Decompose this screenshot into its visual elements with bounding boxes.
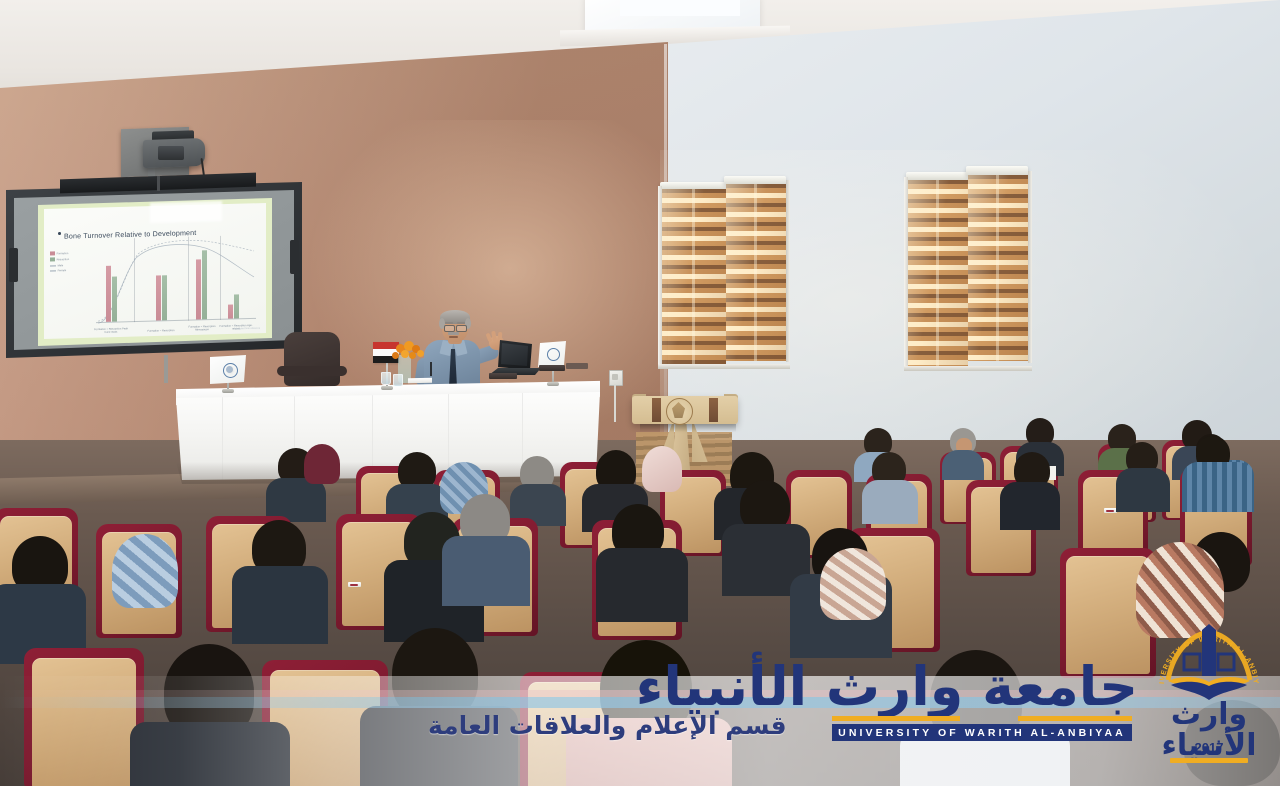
projected-slide: Bone Turnover Relative to Development <box>44 203 266 339</box>
bar-group-3 <box>228 294 239 318</box>
slide-credit-line: Adapted from reference <box>236 328 260 332</box>
book-stack <box>566 363 588 369</box>
podium-accent-left <box>652 398 661 422</box>
legend-swatch-resorption <box>50 258 55 262</box>
chart-xtick-1: Formation = Resorption <box>141 329 181 333</box>
legend-swatch-formation <box>50 251 55 255</box>
blind-left-panel-b[interactable] <box>726 184 786 361</box>
legend-label-resorption: Resorption <box>57 258 70 261</box>
chart-legend: Formation Resorption Male Female <box>50 250 90 275</box>
smartboard-mount-left <box>9 248 18 282</box>
bar-resorption-0 <box>112 277 117 322</box>
legend-label-formation: Formation <box>57 252 69 255</box>
blind-right-panel-b[interactable] <box>968 175 1028 361</box>
lecture-hall-photo: Bone Turnover Relative to Development <box>0 0 1280 786</box>
watermark-university-english: UNIVERSITY OF WARITH AL-ANBIYAA <box>838 727 1126 739</box>
bar-formation-1 <box>156 275 161 320</box>
table-microphone <box>430 362 432 376</box>
bar-formation-3 <box>228 305 233 319</box>
notebook-right <box>539 365 565 371</box>
smartboard-pen-stalk <box>164 355 168 383</box>
presenter-mouth <box>449 336 458 338</box>
watermark-gold-rule-right <box>1018 716 1132 721</box>
water-glass-1 <box>381 372 391 385</box>
seal-founded-year: 2017 <box>1148 740 1270 755</box>
slide-bar-chart: Formation > Resorption Peak bone mass Fo… <box>96 241 256 323</box>
presenter-glasses-right <box>456 325 467 332</box>
smartboard-speaker-divider <box>157 176 160 191</box>
bar-formation-0 <box>106 266 111 322</box>
legend-item-male: Male <box>50 263 90 267</box>
blind-left-panel-a[interactable] <box>662 189 726 366</box>
watermark-university-logo: جامعة وارث الأنبياء UNIVERSITY OF WARITH… <box>826 664 1138 750</box>
legend-line-male <box>50 265 56 266</box>
laptop-display-panel <box>501 343 528 366</box>
presenter-glasses-left <box>444 325 455 332</box>
legend-label-female: Female <box>58 269 67 272</box>
bar-formation-2 <box>196 259 201 319</box>
wall-socket-outlet <box>612 374 618 380</box>
watermark-university-arabic: جامعة وارث الأنبياء <box>826 660 1138 714</box>
slide-glare-hotspot <box>150 201 222 223</box>
legend-item-female: Female <box>50 269 90 273</box>
speaker-chair <box>284 332 340 386</box>
bar-resorption-1 <box>162 275 167 320</box>
legend-item-formation: Formation <box>50 250 90 255</box>
bar-resorption-2 <box>202 250 207 319</box>
slide-bullet-icon <box>58 232 61 235</box>
water-glass-2 <box>393 374 403 387</box>
bar-group-2 <box>196 250 207 319</box>
legend-label-male: Male <box>58 264 64 267</box>
seal-base-rule <box>1170 758 1248 763</box>
watermark-university-seal: UNIVERSITY OF WARITH AL-ANBIYAA وارث الأ… <box>1148 618 1270 768</box>
smartboard-mount-right <box>290 240 299 274</box>
podium-accent-right <box>709 398 718 422</box>
projector-lens <box>158 146 184 160</box>
bar-resorption-3 <box>234 294 239 318</box>
legend-line-female <box>50 271 56 272</box>
bar-group-1 <box>156 275 167 320</box>
blind-right-panel-a[interactable] <box>908 180 968 366</box>
speaker-chair-arm <box>277 366 347 376</box>
presenter-moustache <box>448 332 459 335</box>
notebook-left <box>489 373 517 379</box>
ceiling-light-panel-inner <box>620 0 740 16</box>
wall-socket-conduit <box>614 384 616 422</box>
podium-shadow <box>640 424 736 432</box>
watermark-gold-rule-left <box>832 716 960 721</box>
papers-on-table <box>408 378 432 383</box>
legend-item-resorption: Resorption <box>50 257 90 262</box>
bar-group-0 <box>106 266 117 322</box>
chart-xtick-0: Formation > Resorption Peak bone mass <box>91 327 131 335</box>
watermark-english-bar: UNIVERSITY OF WARITH AL-ANBIYAA <box>832 724 1132 741</box>
